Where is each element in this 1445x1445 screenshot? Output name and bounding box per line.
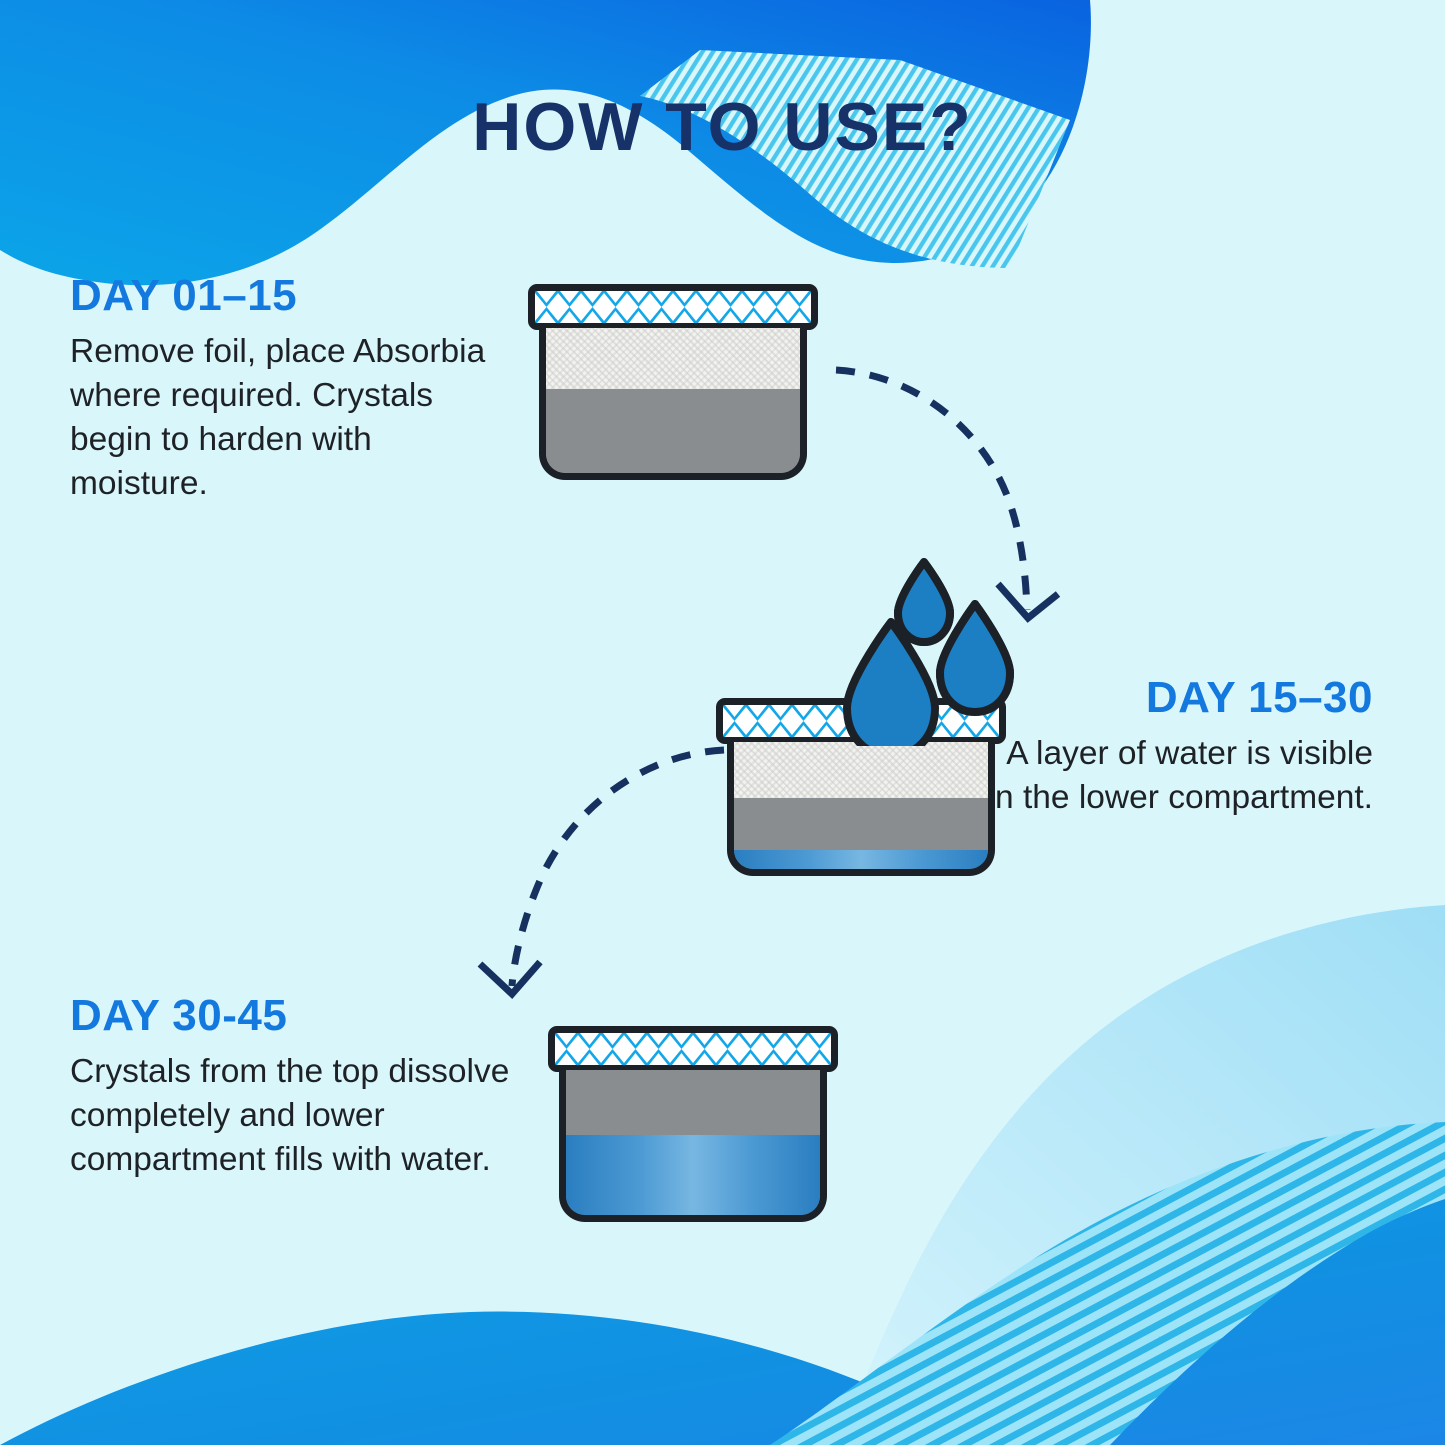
bottom-right-pale-blob	[840, 905, 1445, 1445]
lattice-pattern-3	[555, 1033, 831, 1065]
step-1-description: Remove foil, place Absorbia where requir…	[70, 330, 510, 507]
granule-layer-2	[734, 798, 988, 850]
top-left-stripe-texture	[560, 20, 1120, 320]
flow-arrow-step2-to-step3	[470, 724, 730, 1004]
mesh-lid-1	[528, 284, 818, 330]
step-2-text-block: DAY 15–30 A layer of water is visible in…	[973, 674, 1373, 820]
infographic-canvas: HOW TO USE? DAY 01–15 Remove foil, place…	[0, 0, 1445, 1445]
granule-layer-1	[546, 389, 800, 473]
water-drop-small-overlay	[898, 562, 950, 642]
container-body-1	[539, 328, 807, 480]
container-body-3	[559, 1070, 827, 1222]
crystal-layer-2	[734, 742, 988, 798]
container-body-2	[727, 742, 995, 876]
mesh-lid-3	[548, 1026, 838, 1072]
bottom-wave-blob	[0, 1196, 1445, 1445]
step-3-text-block: DAY 30-45 Crystals from the top dissolve…	[70, 992, 520, 1182]
water-layer-3	[566, 1135, 820, 1215]
lattice-pattern-1	[535, 291, 811, 323]
page-title: HOW TO USE?	[0, 88, 1445, 166]
step-1-day-heading: DAY 01–15	[70, 272, 510, 320]
step-2-description: A layer of water is visible in the lower…	[973, 732, 1373, 820]
crystal-layer-1	[546, 328, 800, 389]
absorbia-container-stage-3	[548, 1026, 838, 1222]
water-layer-2	[734, 850, 988, 869]
water-droplet-group-overlay	[838, 556, 1028, 746]
absorbia-container-stage-1	[528, 284, 818, 480]
step-3-description: Crystals from the top dissolve completel…	[70, 1050, 520, 1183]
step-1-text-block: DAY 01–15 Remove foil, place Absorbia wh…	[70, 272, 510, 506]
step-3-day-heading: DAY 30-45	[70, 992, 520, 1040]
granule-layer-3	[566, 1070, 820, 1135]
step-2-day-heading: DAY 15–30	[973, 674, 1373, 722]
